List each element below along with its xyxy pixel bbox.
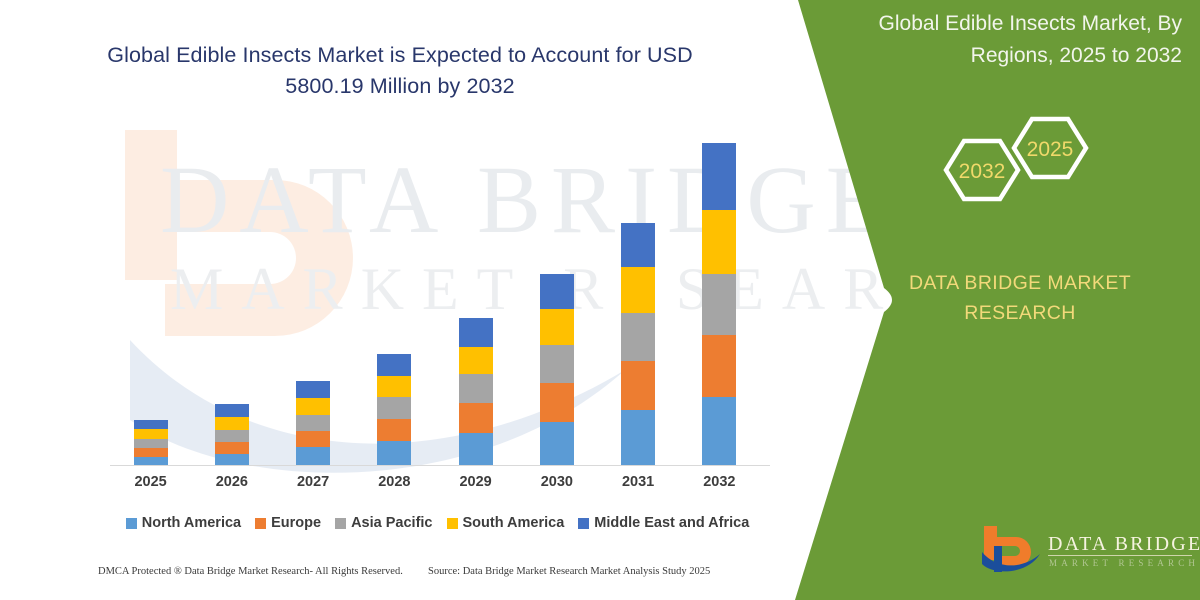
chart-pane: Global Edible Insects Market is Expected… bbox=[0, 0, 800, 600]
bar-segment bbox=[540, 383, 574, 422]
bar-segment bbox=[459, 433, 493, 466]
hexagon-2032-label: 2032 bbox=[959, 160, 1006, 183]
bar-group bbox=[110, 140, 760, 466]
bar-segment bbox=[134, 448, 168, 457]
bar-column bbox=[441, 140, 511, 466]
chart-legend: North AmericaEuropeAsia PacificSouth Ame… bbox=[110, 512, 765, 534]
legend-label: North America bbox=[142, 515, 241, 531]
logo-sub-wordmark: MARKET RESEARCH bbox=[1049, 558, 1199, 568]
bar-segment bbox=[702, 397, 736, 466]
legend-label: South America bbox=[463, 515, 565, 531]
bar-segment bbox=[459, 347, 493, 375]
brand-line-1: DATA BRIDGE MARKET bbox=[909, 272, 1131, 294]
bar-segment bbox=[134, 420, 168, 430]
stacked-bar bbox=[621, 223, 655, 466]
legend-item[interactable]: Europe bbox=[255, 515, 321, 531]
bar-segment bbox=[540, 345, 574, 382]
legend-item[interactable]: Middle East and Africa bbox=[578, 515, 749, 531]
bar-segment bbox=[621, 313, 655, 361]
bar-segment bbox=[702, 143, 736, 210]
x-axis-label: 2031 bbox=[603, 474, 673, 496]
bar-segment bbox=[702, 274, 736, 335]
bar-segment bbox=[377, 397, 411, 419]
hexagon-2032: 2032 bbox=[946, 141, 1018, 199]
stacked-bar bbox=[377, 354, 411, 466]
bar-segment bbox=[621, 361, 655, 410]
bar-segment bbox=[540, 274, 574, 309]
stacked-bar bbox=[702, 143, 736, 466]
bar-column bbox=[603, 140, 673, 466]
hexagon-2025-label: 2025 bbox=[1027, 138, 1074, 161]
bar-column bbox=[116, 140, 186, 466]
bar-segment bbox=[621, 267, 655, 313]
green-panel-content: Global Edible Insects Market, By Regions… bbox=[840, 0, 1200, 600]
brand-line-2: RESEARCH bbox=[964, 302, 1076, 324]
bar-segment bbox=[459, 403, 493, 433]
bar-segment bbox=[134, 429, 168, 439]
x-axis-tick-labels: 20252026202720282029203020312032 bbox=[110, 474, 760, 496]
x-axis-label: 2029 bbox=[441, 474, 511, 496]
legend-swatch bbox=[447, 518, 458, 529]
x-axis-label: 2026 bbox=[197, 474, 267, 496]
x-axis-label: 2032 bbox=[684, 474, 754, 496]
stacked-bar bbox=[459, 318, 493, 466]
bar-segment bbox=[702, 210, 736, 274]
page-title: Global Edible Insects Market is Expected… bbox=[90, 40, 710, 102]
x-axis-label: 2028 bbox=[359, 474, 429, 496]
x-axis-label: 2030 bbox=[522, 474, 592, 496]
logo-wordmark: DATA BRIDGE bbox=[1048, 533, 1200, 556]
bar-segment bbox=[621, 223, 655, 267]
bar-segment bbox=[540, 309, 574, 345]
bar-column bbox=[278, 140, 348, 466]
footer-source-text: Source: Data Bridge Market Research Mark… bbox=[428, 566, 710, 577]
bar-segment bbox=[215, 442, 249, 454]
bar-column bbox=[359, 140, 429, 466]
legend-label: Asia Pacific bbox=[351, 515, 432, 531]
chart-plot-area bbox=[110, 140, 760, 466]
bar-segment bbox=[296, 381, 330, 398]
x-axis-label: 2027 bbox=[278, 474, 348, 496]
company-logo: DATA BRIDGE MARKET RESEARCH bbox=[980, 524, 1195, 586]
legend-item[interactable]: Asia Pacific bbox=[335, 515, 432, 531]
legend-label: Middle East and Africa bbox=[594, 515, 749, 531]
footer: DMCA Protected ® Data Bridge Market Rese… bbox=[0, 566, 800, 590]
legend-swatch bbox=[578, 518, 589, 529]
x-axis-line bbox=[110, 465, 770, 466]
logo-divider bbox=[1048, 555, 1192, 556]
stacked-bar bbox=[540, 274, 574, 466]
legend-item[interactable]: North America bbox=[126, 515, 241, 531]
bar-segment bbox=[377, 419, 411, 441]
legend-swatch bbox=[255, 518, 266, 529]
bar-column bbox=[684, 140, 754, 466]
bar-segment bbox=[621, 410, 655, 466]
stacked-bar bbox=[134, 420, 168, 466]
bar-segment bbox=[215, 417, 249, 429]
bar-segment bbox=[702, 335, 736, 397]
bar-segment bbox=[377, 441, 411, 466]
bar-segment bbox=[296, 447, 330, 466]
bar-segment bbox=[459, 374, 493, 402]
x-axis-label: 2025 bbox=[116, 474, 186, 496]
stacked-bar bbox=[296, 381, 330, 466]
stacked-bar bbox=[215, 404, 249, 466]
bar-column bbox=[522, 140, 592, 466]
bar-segment bbox=[296, 415, 330, 431]
bar-segment bbox=[377, 376, 411, 398]
infographic-root: DATA BRIDGE MARKET RESEARCH Global Edibl… bbox=[0, 0, 1200, 600]
data-bridge-logo-icon bbox=[980, 524, 1042, 580]
green-panel-title: Global Edible Insects Market, By Regions… bbox=[862, 8, 1182, 71]
legend-item[interactable]: South America bbox=[447, 515, 565, 531]
footer-dmca-text: DMCA Protected ® Data Bridge Market Rese… bbox=[98, 566, 403, 577]
bar-segment bbox=[296, 398, 330, 415]
hexagon-badges: 2032 2025 bbox=[926, 108, 1116, 228]
bar-segment bbox=[296, 431, 330, 448]
bar-segment bbox=[215, 404, 249, 418]
legend-swatch bbox=[126, 518, 137, 529]
brand-name: DATA BRIDGE MARKET RESEARCH bbox=[850, 268, 1190, 328]
legend-swatch bbox=[335, 518, 346, 529]
bar-segment bbox=[459, 318, 493, 346]
legend-label: Europe bbox=[271, 515, 321, 531]
bar-segment bbox=[377, 354, 411, 376]
bar-segment bbox=[134, 439, 168, 448]
bar-column bbox=[197, 140, 267, 466]
hexagon-2025: 2025 bbox=[1014, 119, 1086, 177]
bar-segment bbox=[540, 422, 574, 466]
bar-segment bbox=[215, 430, 249, 442]
